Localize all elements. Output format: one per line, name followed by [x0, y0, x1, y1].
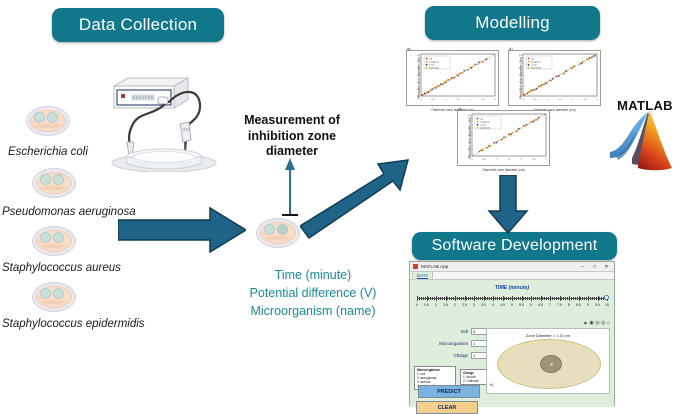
section-banner-data-collection: Data Collection [52, 8, 224, 42]
scatter-point [583, 61, 584, 62]
scatter-point [511, 133, 512, 134]
slider-minor-tick [542, 297, 543, 300]
scatter-plot-b: b) Predicted zone diameter (cm) Observed… [508, 50, 601, 106]
petri-dish-icon [26, 106, 70, 136]
scatter-point [570, 67, 571, 68]
slider-tick-label: 9 [587, 303, 589, 307]
scatter-point [475, 64, 476, 65]
scatter-point [503, 137, 504, 138]
scatter-plot-a-ylabel: Predicted zone diameter (cm) [417, 57, 421, 99]
slider-minor-tick [565, 297, 566, 300]
dish-colony [53, 174, 64, 185]
scatter-point [489, 145, 490, 146]
slider-knob[interactable] [604, 295, 609, 300]
slider-minor-tick [544, 297, 545, 300]
slider-minor-tick [520, 297, 521, 300]
slider-minor-tick [485, 297, 486, 300]
scatter-point [557, 75, 558, 76]
slider-minor-tick [451, 297, 452, 300]
sample-dish-1 [32, 168, 76, 198]
slider-tick [550, 296, 551, 301]
scatter-point [465, 70, 466, 71]
slider-minor-tick [539, 297, 540, 300]
slider-minor-tick [518, 297, 519, 300]
slider-tick-label: 1.5 [443, 303, 448, 307]
scatter-point [594, 55, 595, 56]
scatter-point [535, 89, 536, 90]
scatter-plot-c-xlabel: Observed zone diameter (cm) [458, 168, 549, 172]
slider-minor-tick [533, 297, 534, 300]
scatter-point [549, 80, 550, 81]
scatter-point [441, 84, 442, 85]
scatter-point [460, 73, 461, 74]
scatter-point [445, 82, 446, 83]
slider-minor-tick [459, 297, 460, 300]
slider-tick [436, 296, 437, 301]
slider-minor-tick [482, 297, 483, 300]
slider-minor-tick [601, 297, 602, 300]
plot-toolbar[interactable]: ▲ ◉ ◎ ◎ ⌂ [583, 320, 610, 326]
scatter-point [479, 151, 480, 152]
result-plate-corner-tag: b) [490, 382, 494, 387]
arrow-diagonal-to-modelling-icon [300, 152, 410, 240]
slider-minor-tick [529, 297, 530, 300]
slider-minor-tick [582, 297, 583, 300]
scatter-point [431, 88, 432, 89]
svg-text:2: 2 [469, 99, 471, 101]
slider-tick-label: 8.5 [576, 303, 581, 307]
predict-button[interactable]: PREDICT [418, 385, 480, 398]
scatter-point [497, 140, 498, 141]
slider-tick-label: 9.5 [595, 303, 600, 307]
scatter-point [540, 86, 541, 87]
workflow-diagram: Data Collection Modelling Software Devel… [0, 0, 685, 408]
scatter-plot-b-canvas: 0.00.51.0 1.52.02.5 3.0 00.51 1.522.5 3 … [509, 51, 602, 107]
field-volt-value: 3 [473, 329, 475, 334]
scatter-point [463, 70, 464, 71]
app-body: TIME (minute) 00.511.522.533.544.555.566… [410, 280, 614, 407]
slider-minor-tick [434, 297, 435, 300]
scatter-point [533, 89, 534, 90]
export-icon[interactable]: ▲ [583, 320, 588, 326]
dish-colony [53, 232, 64, 243]
field-volt[interactable]: Volt 3 ▼ [434, 328, 494, 335]
scatter-point [518, 128, 519, 129]
scatter-point [532, 120, 533, 121]
scatter-point [526, 124, 527, 125]
slider-minor-tick [428, 297, 429, 300]
species-label-2: Staphylococcus aureus [2, 262, 121, 274]
slider-tick-label: 2 [454, 303, 456, 307]
svg-text:aeruginosa: aeruginosa [531, 61, 542, 63]
measurement-caption-line-2: inhibition zone [232, 129, 352, 145]
scatter-point [502, 138, 503, 139]
slider-tick-label: 0.5 [424, 303, 429, 307]
slider-tick-label: 5 [511, 303, 513, 307]
slider-title: TIME (minute) [412, 285, 612, 291]
app-icon [413, 264, 418, 269]
measured-dish [256, 218, 300, 248]
maximize-icon[interactable]: □ [590, 264, 599, 270]
svg-text:3: 3 [494, 99, 496, 101]
scatter-point [495, 142, 496, 143]
slider-minor-tick [508, 297, 509, 300]
result-plate-panel: Zone Diameter = 1.10 cm b) [486, 328, 610, 394]
scatter-point [428, 92, 429, 93]
slider-minor-tick [440, 297, 441, 300]
slider-minor-tick [501, 297, 502, 300]
slider-tick-label: 4 [492, 303, 494, 307]
scatter-point [538, 117, 539, 118]
scatter-point [531, 90, 532, 91]
parameter-microorganism: Microorganism (name) [218, 302, 408, 320]
measured-parameters-list: Time (minute) Potential difference (V) M… [218, 266, 408, 320]
slider-tick-label: 10 [605, 303, 609, 307]
zoom-in-icon[interactable]: ◎ [595, 320, 599, 326]
section-banner-software-development-label: Software Development [432, 237, 598, 255]
scatter-point [546, 83, 547, 84]
slider-minor-tick [444, 297, 445, 300]
slider-minor-tick [552, 297, 553, 300]
slider-minor-tick [506, 297, 507, 300]
scatter-point [545, 82, 546, 83]
scatter-point [563, 73, 564, 74]
svg-text:0.5: 0.5 [482, 159, 486, 161]
scatter-point [516, 131, 517, 132]
field-microorganism[interactable]: Microorganism 1 ▼ [434, 340, 494, 347]
scatter-point [477, 63, 478, 64]
scatter-plot-b-tag: b) [509, 46, 513, 51]
slider-tick-label: 1 [435, 303, 437, 307]
scatter-point [424, 93, 425, 94]
restore-view-icon[interactable]: ⌂ [607, 320, 610, 326]
slider-minor-tick [594, 297, 595, 300]
scatter-point [434, 87, 435, 88]
slider-tick [569, 296, 570, 301]
result-petri-dish-icon [497, 339, 601, 389]
scatter-point [535, 119, 536, 120]
slider-minor-tick [438, 297, 439, 300]
slider-minor-tick [586, 297, 587, 300]
scatter-point [467, 69, 468, 70]
scatter-point [524, 126, 525, 127]
slider-minor-tick [499, 297, 500, 300]
zone-diameter-label: Zone Diameter = 1.10 cm [487, 333, 609, 338]
dish-streak [34, 124, 61, 128]
scatter-point [590, 58, 591, 59]
scatter-point [538, 86, 539, 87]
scatter-point [523, 125, 524, 126]
svg-text:1.5: 1.5 [456, 99, 460, 101]
scatter-point [482, 61, 483, 62]
scatter-point [589, 57, 590, 58]
svg-text:aeruginosa: aeruginosa [480, 121, 491, 123]
scatter-point [471, 67, 472, 68]
scatter-plot-c: c) Predicted zone diameter (cm) Observed… [457, 110, 550, 166]
scatter-point [541, 84, 542, 85]
scatter-point [478, 62, 479, 63]
charge-legend-item: 2: Cathode [463, 379, 485, 383]
slider-minor-tick [580, 297, 581, 300]
slider-tick-label: 6.5 [538, 303, 543, 307]
slider-minor-tick [504, 297, 505, 300]
tab-data[interactable]: DATA [412, 271, 433, 279]
slider-tick-label: 7.5 [557, 303, 562, 307]
slider-tick [493, 296, 494, 301]
slider-tick-label: 0 [416, 303, 418, 307]
slider-minor-tick [461, 297, 462, 300]
slider-minor-tick [537, 297, 538, 300]
slider-tick [541, 296, 542, 301]
dish-colony [40, 174, 51, 185]
dish-colony [40, 232, 51, 243]
scatter-point [517, 129, 518, 130]
slider-minor-tick [487, 297, 488, 300]
scatter-point [565, 70, 566, 71]
scatter-point [586, 59, 587, 60]
svg-text:aureus: aureus [531, 65, 537, 67]
slider-minor-tick [561, 297, 562, 300]
svg-text:0: 0 [420, 99, 422, 101]
svg-text:1.5: 1.5 [558, 99, 562, 101]
slider-minor-tick [472, 297, 473, 300]
svg-text:0: 0 [522, 99, 524, 101]
svg-text:0: 0 [471, 159, 473, 161]
slider-tick [598, 296, 599, 301]
slider-minor-tick [449, 297, 450, 300]
scatter-point [487, 147, 488, 148]
slider-minor-tick [447, 297, 448, 300]
slider-minor-tick [457, 297, 458, 300]
scatter-point [524, 94, 525, 95]
field-charge-value: 1 [473, 353, 475, 358]
scatter-point [423, 94, 424, 95]
slider-tick-label: 2.5 [462, 303, 467, 307]
slider-minor-tick [463, 297, 464, 300]
petri-dish-icon [32, 168, 76, 198]
scatter-point [573, 66, 574, 67]
scatter-point [510, 134, 511, 135]
scatter-point [531, 121, 532, 122]
scatter-point [429, 90, 430, 91]
result-inhibition-zone [540, 355, 562, 373]
scatter-point [551, 80, 552, 81]
scatter-point [457, 75, 458, 76]
scatter-point [430, 90, 431, 91]
zoom-out-icon[interactable]: ◎ [601, 320, 605, 326]
scatter-point [582, 62, 583, 63]
slider-minor-tick [584, 297, 585, 300]
scatter-point [447, 79, 448, 80]
petri-dish-icon [256, 218, 300, 248]
scatter-point [452, 78, 453, 79]
slider-tick-label: 3.5 [481, 303, 486, 307]
slider-minor-tick [425, 297, 426, 300]
field-charge[interactable]: Charge 1 ▼ [434, 352, 494, 359]
matlab-app-window[interactable]: MATLAB App – □ ✕ DATA TIME (minute) 00.5… [409, 261, 615, 406]
slider-minor-tick [423, 297, 424, 300]
scatter-point [534, 119, 535, 120]
slider-tick [512, 296, 513, 301]
slider-tick-label: 3 [473, 303, 475, 307]
scatter-point [547, 81, 548, 82]
svg-text:epidermidis: epidermidis [429, 67, 439, 69]
slider-tick-label: 8 [568, 303, 570, 307]
scatter-point [572, 68, 573, 69]
app-window-title: MATLAB App [421, 264, 575, 269]
scatter-point [539, 116, 540, 117]
slider-tick [579, 296, 580, 301]
app-title-bar: MATLAB App – □ ✕ [410, 262, 614, 272]
slider-minor-tick [575, 297, 576, 300]
scatter-point [591, 56, 592, 57]
scatter-plot-b-ylabel: Predicted zone diameter (cm) [519, 57, 523, 99]
scatter-point [528, 92, 529, 93]
slider-minor-tick [480, 297, 481, 300]
scatter-point [574, 65, 575, 66]
dish-colony [53, 288, 64, 299]
scatter-point [556, 76, 557, 77]
field-charge-label: Charge [434, 353, 468, 358]
dish-colony [47, 112, 58, 123]
scatter-point [537, 87, 538, 88]
scatter-point [505, 137, 506, 138]
app-tab-bar: DATA [410, 272, 614, 280]
scatter-point [450, 79, 451, 80]
slider-minor-tick [563, 297, 564, 300]
scatter-point [537, 119, 538, 120]
field-volt-label: Volt [434, 329, 468, 334]
section-banner-data-collection-label: Data Collection [79, 15, 197, 35]
dish-colony [264, 224, 275, 235]
scatter-point [552, 78, 553, 79]
scatter-plot-a-canvas: 0.00.51.0 1.52.02.5 3.0 00.51 1.522.5 3 … [407, 51, 500, 107]
svg-text:aeruginosa: aeruginosa [429, 61, 440, 63]
scatter-point [443, 83, 444, 84]
scatter-point [567, 70, 568, 71]
scatter-point [433, 89, 434, 90]
field-microorganism-value: 1 [473, 341, 475, 346]
scatter-point [519, 128, 520, 129]
species-label-3: Staphylococcus epidermidis [2, 318, 145, 330]
scatter-point [484, 59, 485, 60]
scatter-point [462, 72, 463, 73]
scatter-point [501, 139, 502, 140]
dish-colony [34, 112, 45, 123]
field-microorganism-label: Microorganism [434, 341, 468, 346]
scatter-point [533, 121, 534, 122]
scatter-point [496, 142, 497, 143]
slider-minor-tick [489, 297, 490, 300]
scatter-plot-c-tag: c) [458, 106, 461, 111]
scatter-point [525, 93, 526, 94]
scatter-point [530, 91, 531, 92]
scatter-point [439, 86, 440, 87]
slider-tick-label: 7 [549, 303, 551, 307]
slider-tick [455, 296, 456, 301]
scatter-point [579, 63, 580, 64]
scatter-point [486, 59, 487, 60]
slider-tick [560, 296, 561, 301]
dish-streak [40, 186, 67, 190]
slider-minor-tick [510, 297, 511, 300]
scatter-point [536, 88, 537, 89]
slider-minor-tick [599, 297, 600, 300]
section-banner-modelling-label: Modelling [475, 13, 550, 33]
measurement-up-arrow-icon [278, 158, 302, 216]
slider-minor-tick [592, 297, 593, 300]
petri-dish-icon [32, 282, 76, 312]
slider-tick [588, 296, 589, 301]
svg-text:epidermidis: epidermidis [480, 127, 490, 129]
time-slider[interactable]: 00.511.522.533.544.555.566.577.588.599.5… [417, 295, 607, 311]
slider-tick-label: 6 [530, 303, 532, 307]
modelling-scatter-plots: a) Predicted zone diameter (cm) Observed… [398, 48, 613, 168]
dish-colony [40, 288, 51, 299]
minimize-icon[interactable]: – [578, 264, 587, 270]
pan-icon[interactable]: ◉ [589, 320, 593, 326]
slider-tick [474, 296, 475, 301]
scatter-point [436, 86, 437, 87]
scatter-point [438, 85, 439, 86]
svg-text:2.5: 2.5 [532, 159, 536, 161]
scatter-plot-a-tag: a) [407, 46, 411, 51]
slider-minor-tick [421, 297, 422, 300]
slider-minor-tick [527, 297, 528, 300]
slider-minor-tick [554, 297, 555, 300]
scatter-point [426, 91, 427, 92]
arrow-down-to-software-icon [487, 175, 529, 235]
svg-text:aureus: aureus [480, 125, 486, 127]
slider-minor-tick [430, 297, 431, 300]
scatter-point [459, 73, 460, 74]
scatter-point [508, 133, 509, 134]
scatter-plot-c-canvas: 0.00.51.0 1.52.02.5 3.0 00.51 1.522.5 3 … [458, 111, 551, 167]
slider-tick [427, 296, 428, 301]
slider-minor-tick [491, 297, 492, 300]
slider-tick [522, 296, 523, 301]
slider-minor-tick [470, 297, 471, 300]
svg-text:0.5: 0.5 [431, 99, 435, 101]
scatter-point [542, 84, 543, 85]
svg-text:1: 1 [496, 159, 498, 161]
scatter-point [481, 149, 482, 150]
parameter-potential-difference: Potential difference (V) [218, 284, 408, 302]
slider-minor-tick [432, 297, 433, 300]
scatter-point [480, 150, 481, 151]
svg-text:1.5: 1.5 [507, 159, 511, 161]
dish-inhibition-zone [277, 224, 288, 235]
dish-streak [40, 300, 67, 304]
section-banner-software-development: Software Development [412, 232, 617, 260]
parameter-time: Time (minute) [218, 266, 408, 284]
slider-minor-tick [596, 297, 597, 300]
species-label-1: Pseudomonas aeruginosa [2, 206, 136, 218]
slider-minor-tick [577, 297, 578, 300]
svg-text:aureus: aureus [429, 65, 435, 67]
svg-text:0.5: 0.5 [533, 99, 537, 101]
scatter-point [482, 149, 483, 150]
slider-minor-tick [497, 297, 498, 300]
matlab-membrane-logo [608, 94, 682, 174]
slider-minor-tick [525, 297, 526, 300]
scatter-point [580, 62, 581, 63]
svg-text:1: 1 [547, 99, 549, 101]
svg-text:2.5: 2.5 [481, 99, 485, 101]
scatter-point [444, 81, 445, 82]
slider-minor-tick [514, 297, 515, 300]
close-icon[interactable]: ✕ [602, 264, 611, 270]
